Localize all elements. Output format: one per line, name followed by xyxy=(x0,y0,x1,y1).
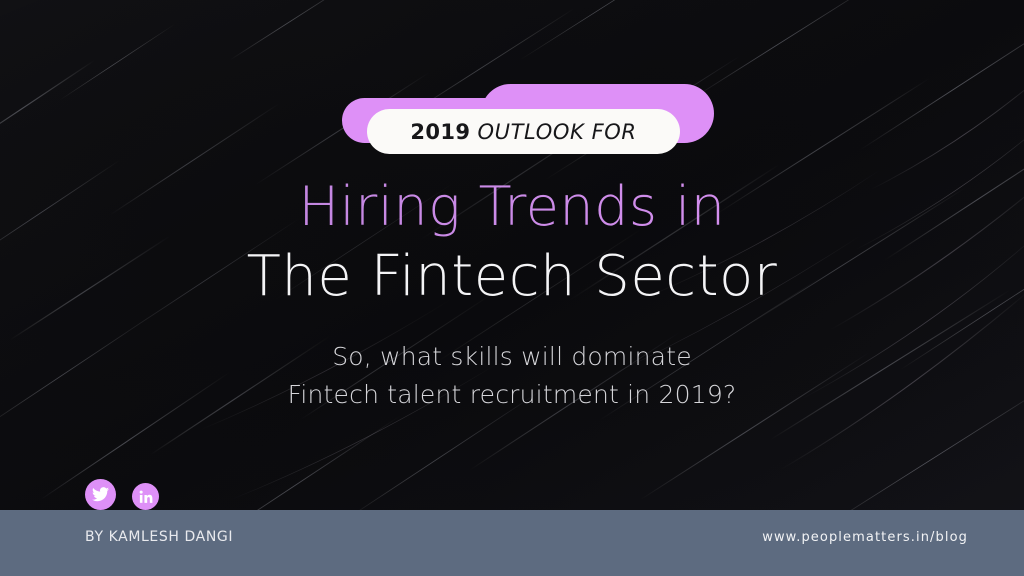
slide-subtitle: So, what skills will dominate Fintech ta… xyxy=(0,338,1024,414)
badge-text: 2019 OUTLOOK FOR xyxy=(410,120,636,144)
title-line-secondary: The Fintech Sector xyxy=(0,244,1024,310)
outlook-badge: 2019 OUTLOOK FOR xyxy=(342,84,714,156)
subtitle-line-1: So, what skills will dominate xyxy=(0,338,1024,376)
badge-subject: OUTLOOK FOR xyxy=(478,120,637,144)
subtitle-line-2: Fintech talent recruitment in 2019? xyxy=(0,376,1024,414)
linkedin-icon[interactable] xyxy=(132,483,159,510)
twitter-icon[interactable] xyxy=(85,479,116,510)
author-byline: BY KAMLESH DANGI xyxy=(85,529,233,545)
presentation-slide: 2019 OUTLOOK FOR Hiring Trends in The Fi… xyxy=(0,0,1024,576)
badge-year: 2019 xyxy=(410,120,470,144)
website-url[interactable]: www.peoplematters.in/blog xyxy=(762,530,968,545)
badge-pill: 2019 OUTLOOK FOR xyxy=(367,109,680,154)
slide-title-block: Hiring Trends in The Fintech Sector xyxy=(0,176,1024,310)
social-links xyxy=(85,479,159,510)
title-line-primary: Hiring Trends in xyxy=(0,176,1024,238)
